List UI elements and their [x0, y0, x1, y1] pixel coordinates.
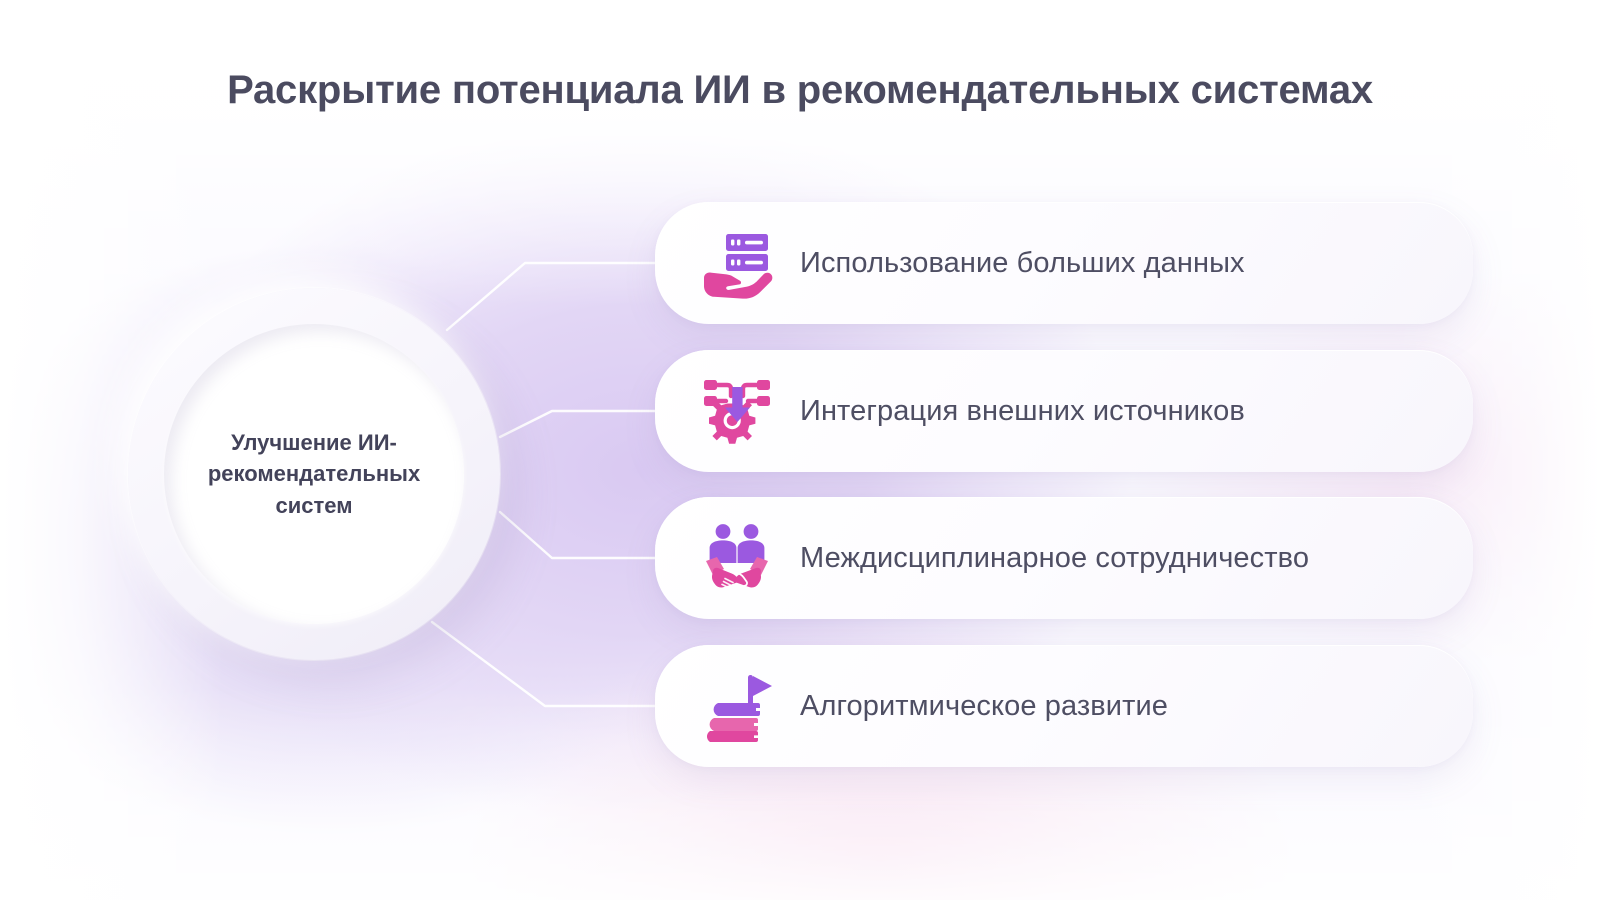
handshake-people-icon [700, 521, 774, 595]
hub-label-line-3: систем [276, 493, 353, 518]
books-flag-icon [700, 669, 774, 743]
data-in-hand-icon [700, 226, 774, 300]
central-hub: Улучшение ИИ- рекомендательных систем [128, 288, 500, 660]
card-collaboration[interactable]: Междисциплинарное сотрудничество [655, 497, 1473, 619]
integration-gear-icon [700, 374, 774, 448]
card-big-data[interactable]: Использование больших данных [655, 202, 1473, 324]
connector-line-3 [500, 512, 660, 558]
card-label: Интеграция внешних источников [800, 395, 1245, 428]
page-title: Раскрытие потенциала ИИ в рекомендательн… [0, 68, 1600, 113]
connector-line-2 [500, 411, 660, 437]
infographic-canvas: Раскрытие потенциала ИИ в рекомендательн… [0, 0, 1600, 900]
card-algorithmic-development[interactable]: Алгоритмическое развитие [655, 645, 1473, 767]
hub-label-line-1: Улучшение ИИ- [231, 430, 397, 455]
hub-label-line-2: рекомендательных [208, 461, 420, 486]
card-label: Использование больших данных [800, 247, 1245, 280]
card-label: Междисциплинарное сотрудничество [800, 542, 1309, 575]
card-label: Алгоритмическое развитие [800, 690, 1168, 723]
hub-label: Улучшение ИИ- рекомендательных систем [194, 427, 434, 521]
card-integration[interactable]: Интеграция внешних источников [655, 350, 1473, 472]
hub-inner-circle: Улучшение ИИ- рекомендательных систем [164, 324, 464, 624]
